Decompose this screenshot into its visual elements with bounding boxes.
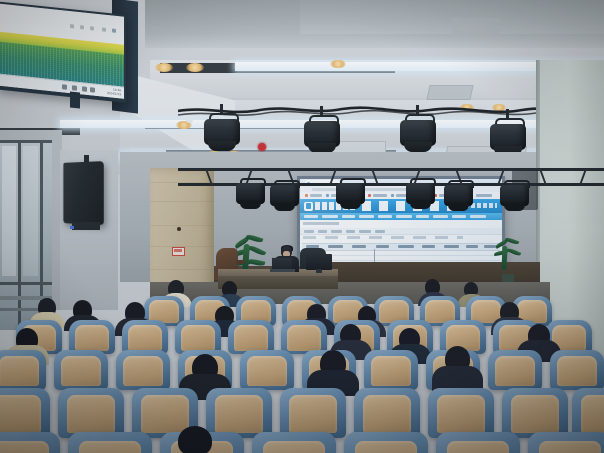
toolbar-button[interactable] (346, 230, 355, 233)
ceiling-vent (426, 85, 473, 100)
seat-back-panel (287, 325, 321, 351)
desk-monitor (306, 254, 332, 270)
table-column-header[interactable] (376, 245, 389, 248)
seat[interactable] (0, 432, 60, 453)
subnav-item[interactable] (359, 215, 374, 218)
taskbar-clock: 14:36 2024/1/23 (107, 87, 121, 97)
subnav-item[interactable] (396, 215, 412, 218)
window-pane (23, 146, 38, 276)
audience-seating (0, 276, 604, 453)
spotlight-lens (340, 201, 361, 209)
monitor-toolbar-icon[interactable] (112, 28, 116, 32)
bookmark-icon[interactable] (391, 194, 394, 197)
toolbar-button[interactable] (359, 230, 371, 233)
seat-back-panel (67, 395, 115, 433)
bookmark-icon[interactable] (368, 194, 371, 197)
subnav-item[interactable] (304, 215, 318, 218)
seat-back-panel (0, 441, 49, 453)
seat[interactable] (0, 388, 50, 438)
audience-head (178, 426, 212, 453)
seat[interactable] (364, 350, 418, 390)
table-column-header[interactable] (328, 245, 343, 248)
downlight-icon (186, 63, 204, 72)
downlight-icon (155, 63, 173, 72)
seat[interactable] (428, 388, 494, 438)
window-pane (2, 146, 16, 276)
toolbar-button[interactable] (304, 230, 314, 233)
seat[interactable] (0, 350, 46, 390)
table-column-header[interactable] (352, 245, 366, 248)
seat[interactable] (68, 432, 152, 453)
seat-back-panel (581, 395, 604, 433)
seat-back-panel (263, 441, 325, 453)
taskbar-icon[interactable] (82, 86, 87, 92)
seat-back-panel (141, 395, 189, 433)
seat[interactable] (175, 320, 221, 354)
ceiling-vent (452, 18, 500, 34)
subnav-item[interactable] (378, 215, 392, 218)
table-column-header[interactable] (398, 245, 414, 248)
smoke-detector-icon (258, 143, 266, 151)
seat-back-panel (557, 356, 597, 386)
seat[interactable] (281, 320, 327, 354)
spotlight-lens (410, 201, 431, 209)
seat[interactable] (122, 320, 168, 354)
bookmark-icon[interactable] (305, 194, 308, 197)
conference-hall-photo: 14:36 2024/1/23 (0, 0, 604, 453)
subnav-item[interactable] (342, 215, 355, 218)
toolbar-button[interactable] (375, 230, 385, 233)
seat-back-panel (128, 325, 162, 351)
table-column-header[interactable] (444, 245, 459, 248)
table-column-header[interactable] (466, 245, 478, 248)
seat-back-panel (0, 356, 39, 386)
speaker-led-icon (70, 226, 74, 229)
seat-back-panel (371, 356, 411, 386)
seat[interactable] (240, 350, 294, 390)
subnav-item[interactable] (433, 215, 448, 218)
seat[interactable] (528, 432, 604, 453)
app-logo-mark (306, 203, 312, 209)
seat-back-panel (123, 356, 163, 386)
seat-back-panel (79, 441, 141, 453)
door-knob-icon[interactable] (177, 227, 181, 231)
spotlight-lens (208, 141, 236, 151)
desk-monitor-stand (316, 269, 322, 273)
seat-back-panel (0, 395, 41, 433)
seat[interactable] (280, 388, 346, 438)
spotlight-lens (240, 201, 261, 209)
seat-back-panel (75, 325, 109, 351)
seat[interactable] (58, 388, 124, 438)
seat-back-panel (289, 395, 337, 433)
seat[interactable] (488, 350, 542, 390)
spotlight-lens (448, 203, 469, 211)
ceiling-monitor[interactable]: 14:36 2024/1/23 (0, 3, 124, 98)
laptop-base (270, 269, 295, 272)
subnav-item[interactable] (452, 215, 466, 218)
seat-back-panel (539, 441, 601, 453)
seat[interactable] (354, 388, 420, 438)
seat-back-panel (363, 395, 411, 433)
seat-back-panel (355, 441, 417, 453)
toolbar-button[interactable] (331, 230, 342, 233)
seat-back-panel (215, 395, 263, 433)
seat[interactable] (344, 432, 428, 453)
seat-back-panel (234, 325, 268, 351)
taskbar-icon[interactable] (72, 85, 77, 91)
taskbar-icon[interactable] (62, 84, 67, 90)
subnav-item[interactable] (322, 215, 338, 218)
spotlight-lens (504, 203, 525, 211)
emergency-sign-graphic (174, 249, 182, 252)
spotlight-lens (404, 142, 432, 152)
monitor-toolbar-icon[interactable] (90, 26, 94, 30)
speaker-bracket (72, 222, 100, 230)
downlight-icon (330, 60, 346, 68)
armchair-arm (236, 260, 245, 264)
seat-back-panel (247, 356, 287, 386)
seat-back-panel (181, 325, 215, 351)
wall-speaker (63, 161, 103, 225)
seat-back-panel (437, 395, 485, 433)
seat[interactable] (502, 388, 568, 438)
bookmark-icon[interactable] (326, 194, 329, 197)
seat[interactable] (228, 320, 274, 354)
breadcrumb (303, 222, 339, 225)
bookmark-item[interactable] (310, 194, 322, 197)
subnav-item[interactable] (470, 215, 486, 218)
seat-back-panel (447, 441, 509, 453)
seat-back-panel (61, 356, 101, 386)
seat-back-panel (495, 356, 535, 386)
bookmark-item[interactable] (476, 194, 492, 197)
window-mullion (0, 140, 52, 143)
monitor-toolbar-icon[interactable] (80, 25, 84, 29)
seat[interactable] (206, 388, 272, 438)
monitor-mount-arm (70, 91, 80, 108)
bookmark-item[interactable] (373, 194, 387, 197)
seat[interactable] (572, 388, 604, 438)
table-column-header[interactable] (422, 245, 435, 248)
taskbar-icon[interactable] (90, 87, 95, 93)
monitor-toolbar-icon[interactable] (102, 27, 106, 31)
filter-row[interactable] (303, 236, 463, 239)
seat[interactable] (550, 350, 604, 390)
seat[interactable] (116, 350, 170, 390)
toolbar-button[interactable] (318, 230, 327, 233)
seat[interactable] (69, 320, 115, 354)
spotlight-lens (274, 203, 295, 211)
seat[interactable] (54, 350, 108, 390)
seat[interactable] (436, 432, 520, 453)
seat[interactable] (252, 432, 336, 453)
subnav-item[interactable] (416, 215, 429, 218)
seat-back-panel (511, 395, 559, 433)
monitor-toolbar-icon[interactable] (70, 24, 74, 28)
